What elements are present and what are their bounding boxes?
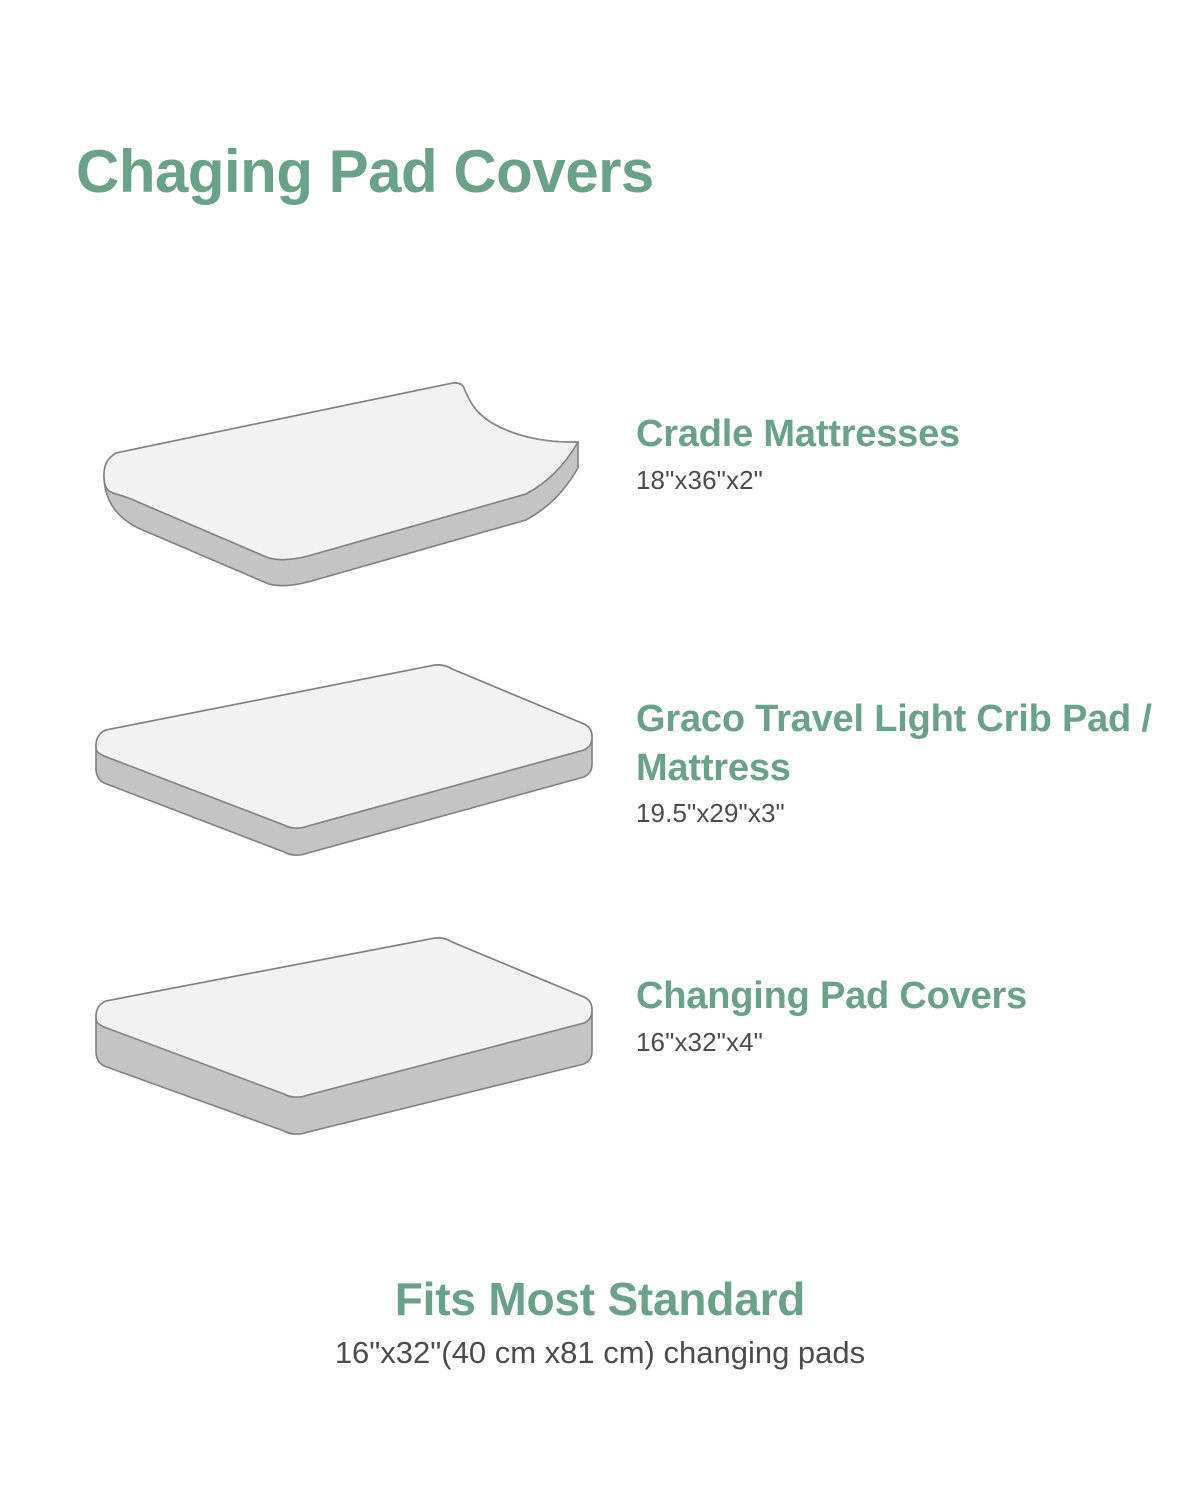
- product-dimensions: 16"x32"x4": [636, 1027, 1166, 1058]
- thin-flat-mattress-illustration: [78, 660, 608, 860]
- product-row: Graco Travel Light Crib Pad / Mattress 1…: [0, 660, 1200, 875]
- product-title: Changing Pad Covers: [636, 972, 1166, 1021]
- footer-title: Fits Most Standard: [0, 1272, 1200, 1327]
- footer-subtitle: 16"x32"(40 cm x81 cm) changing pads: [0, 1335, 1200, 1371]
- thick-flat-mattress-illustration: [78, 935, 608, 1135]
- product-text-block: Changing Pad Covers 16"x32"x4": [636, 972, 1166, 1058]
- infographic-page: Chaging Pad Covers Cradle Mattresses 18"…: [0, 0, 1200, 1500]
- product-title: Graco Travel Light Crib Pad / Mattress: [636, 695, 1166, 792]
- product-title: Cradle Mattresses: [636, 410, 1166, 459]
- contoured-changing-pad-illustration: [78, 368, 608, 598]
- product-text-block: Graco Travel Light Crib Pad / Mattress 1…: [636, 695, 1166, 829]
- footer-block: Fits Most Standard 16"x32"(40 cm x81 cm)…: [0, 1272, 1200, 1371]
- product-dimensions: 18"x36"x2": [636, 465, 1166, 496]
- product-dimensions: 19.5"x29"x3": [636, 798, 1166, 829]
- page-title: Chaging Pad Covers: [76, 138, 654, 205]
- product-row: Changing Pad Covers 16"x32"x4": [0, 935, 1200, 1150]
- product-text-block: Cradle Mattresses 18"x36"x2": [636, 410, 1166, 496]
- product-row: Cradle Mattresses 18"x36"x2": [0, 368, 1200, 598]
